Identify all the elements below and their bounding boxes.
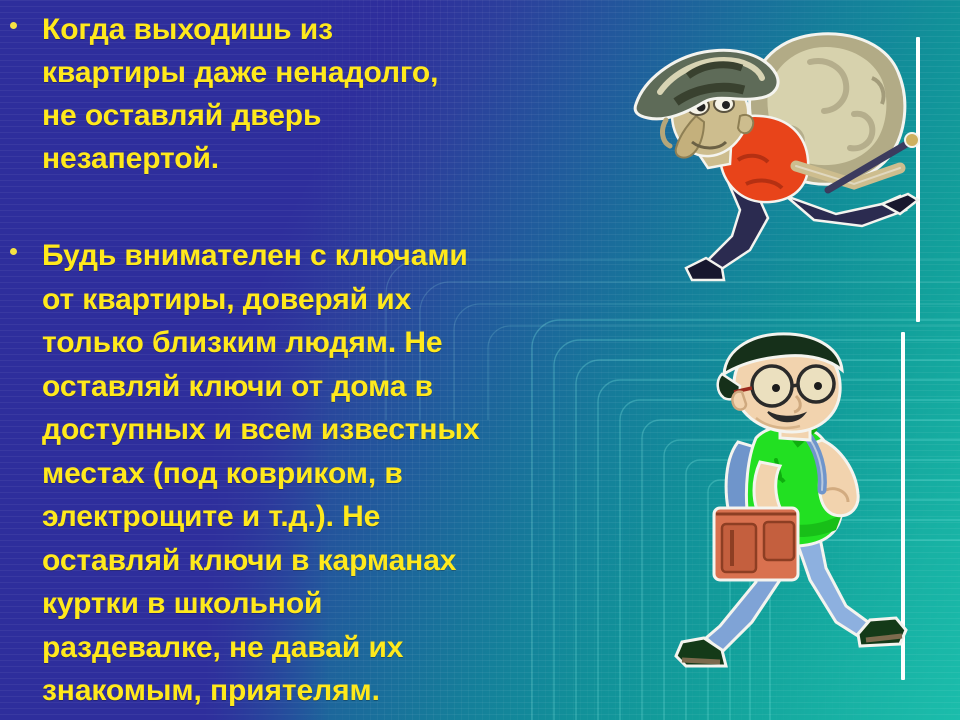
bullet-item-1: Когда выходишь из квартиры даже ненадолг… bbox=[0, 8, 560, 180]
bullet-text-2: Будь внимателен с ключами от квартиры, д… bbox=[42, 234, 560, 713]
bullet-item-2: Будь внимателен с ключами от квартиры, д… bbox=[0, 234, 560, 713]
burglar-with-sack-illustration bbox=[600, 18, 920, 298]
bullet-text-1: Когда выходишь из квартиры даже ненадолг… bbox=[42, 8, 560, 180]
bullet-marker-icon bbox=[10, 248, 17, 255]
slide-canvas: Когда выходишь из квартиры даже ненадолг… bbox=[0, 0, 960, 720]
bullet-marker-icon bbox=[10, 22, 17, 29]
slide-text-content: Когда выходишь из квартиры даже ненадолг… bbox=[0, 0, 560, 713]
schoolboy-walking-illustration bbox=[660, 330, 920, 675]
